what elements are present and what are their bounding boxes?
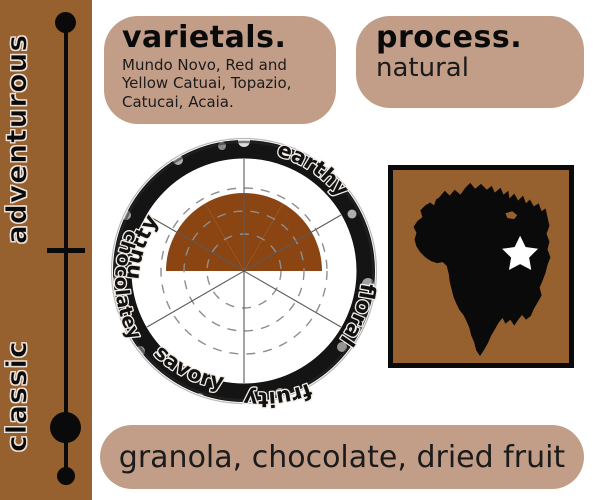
intensity-slider-handle[interactable] [50,412,81,443]
intensity-sidebar: adventurous classic [0,0,92,500]
varietals-value: Mundo Novo, Red and Yellow Catuai, Topaz… [122,56,320,112]
process-heading: process. [376,22,568,54]
process-panel: process. natural [356,16,584,108]
origin-map-panel [388,165,574,368]
coffee-tasting-card: adventurous classic varietals. Mundo Nov… [0,0,600,500]
origin-map-brazil [393,170,569,363]
varietals-panel: varietals. Mundo Novo, Red and Yellow Ca… [104,16,336,124]
intensity-label-adventurous: adventurous [0,14,46,264]
intensity-midpoint-tick [47,248,85,253]
process-value: natural [376,54,568,83]
intensity-endpoint-classic [57,467,75,485]
flavor-notes-text: granola, chocolate, dried fruit [119,440,565,475]
flavor-wheel: nutty earthy floral fruity [104,131,384,411]
intensity-endpoint-adventurous [55,12,76,33]
varietals-heading: varietals. [122,22,320,54]
flavor-notes-panel: granola, chocolate, dried fruit [100,425,584,489]
intensity-label-classic: classic [0,306,46,486]
